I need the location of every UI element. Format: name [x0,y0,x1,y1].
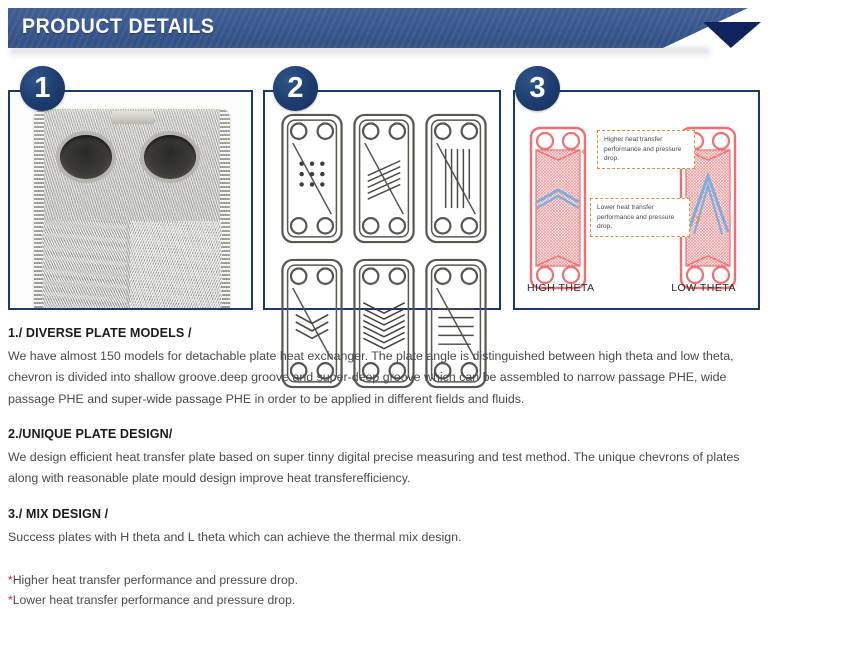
label-high-theta: HIGH THETA [527,282,595,294]
plate-model-vertical-groove [422,108,490,249]
section-heading: 2./UNIQUE PLATE DESIGN/ [8,427,808,441]
section-body: We have almost 150 models for detachable… [8,346,753,410]
section-diverse-plate-models: 1./ DIVERSE PLATE MODELS / We have almos… [8,326,808,410]
callout-arrow-high-icon: ‹ [581,142,587,159]
plate-drawing-icon [350,108,418,249]
footnote-lower: *Lower heat transfer performance and pre… [8,590,808,611]
product-description: 1./ DIVERSE PLATE MODELS / We have almos… [8,326,808,611]
plate-models-grid [278,108,490,298]
plate-lower-left-texture [42,221,126,308]
banner-shadow [10,48,710,57]
footnote-text: Lower heat transfer performance and pres… [13,593,296,607]
callout-low-theta: Lower heat transfer performance and pres… [590,198,690,237]
step-badge-3: 3 [515,66,560,111]
section-mix-design: 3./ MIX DESIGN / Success plates with H t… [8,507,808,548]
plate-port-hole-left [60,135,112,179]
banner-arrow-accent [703,22,761,48]
page-title: PRODUCT DETAILS [22,15,214,39]
plate-top-bracket [112,111,154,124]
section-unique-plate-design: 2./UNIQUE PLATE DESIGN/ We design effici… [8,427,808,490]
section-heading: 3./ MIX DESIGN / [8,507,808,521]
heat-exchanger-plate-photo [34,109,230,308]
plate-model-diagonal-groove [350,108,418,249]
footnote-text: Higher heat transfer performance and pre… [13,573,298,587]
plate-photo-image [10,92,251,308]
plate-model-dimple [278,108,346,249]
step-badge-1: 1 [20,66,65,111]
plate-models-panel [263,90,501,310]
plate-drawing-icon [422,108,490,249]
section-body: Success plates with H theta and L theta … [8,527,753,548]
label-low-theta: LOW THETA [671,282,736,294]
plate-port-hole-right [144,135,196,179]
callout-high-theta: Higher heat transfer performance and pre… [597,130,695,169]
page-header-banner: PRODUCT DETAILS [0,8,848,56]
section-body: We design efficient heat transfer plate … [8,447,753,490]
high-theta-plate-diagram [527,124,589,292]
callout-arrow-low-icon: › [695,210,701,227]
step-badge-2: 2 [273,66,318,111]
theta-comparison-panel: ‹ › Higher heat transfer performance and… [513,90,760,310]
plate-lower-right-texture [130,221,222,308]
footnote-higher: *Higher heat transfer performance and pr… [8,570,808,591]
plate-photo-panel [8,90,253,310]
section-heading: 1./ DIVERSE PLATE MODELS / [8,326,808,340]
plate-drawing-icon [278,108,346,249]
